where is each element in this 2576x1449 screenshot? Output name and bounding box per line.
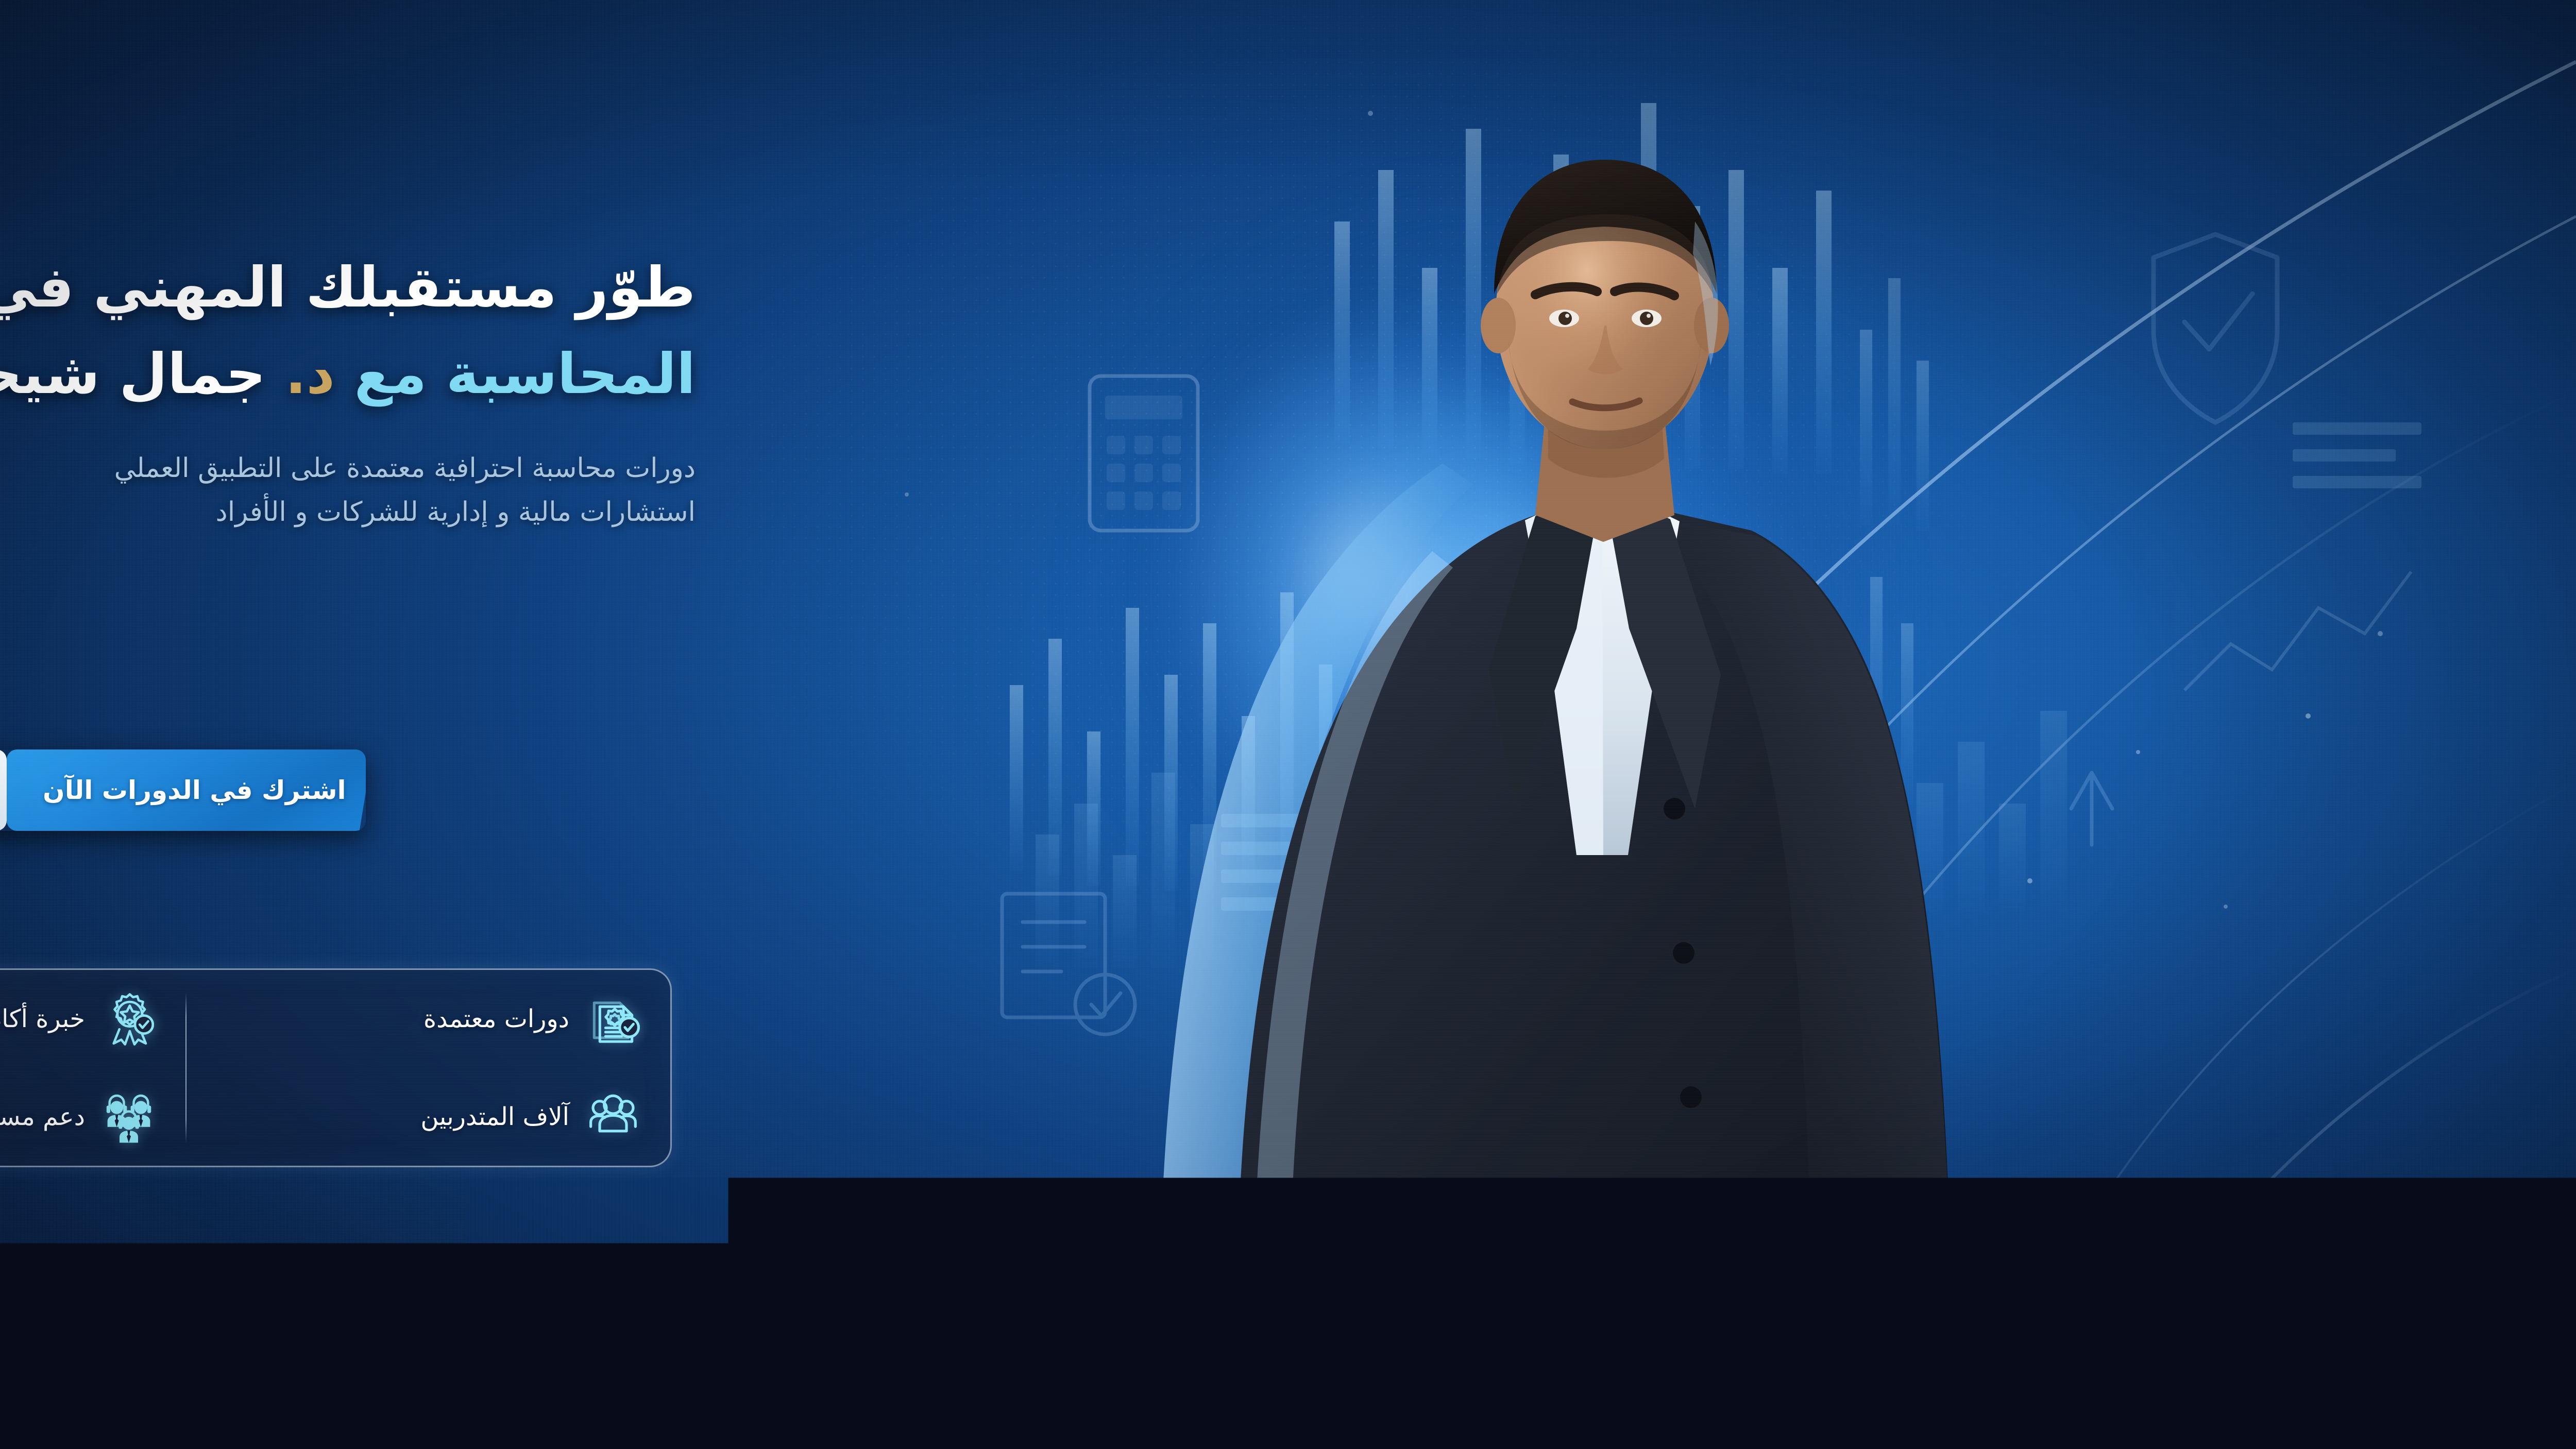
page-title: طوّر مستقبلك المهني في المحاسبة مع د. جم… — [0, 247, 696, 415]
headline-accent-cyan: المحاسبة مع — [354, 342, 696, 406]
feature-academic-practical-experience[interactable]: خبرة أكاديمية وعملية — [0, 988, 186, 1049]
feature-certified-courses[interactable]: دورات معتمدة — [186, 988, 670, 1049]
feature-highlights-card: دورات معتمدة خبرة أكاديمية وعملية — [0, 968, 672, 1167]
book-consultation-button[interactable]: احجز استشارة مالية — [0, 749, 7, 831]
subtitle-line-2: استشارات مالية و إدارية للشركات و الأفرا… — [0, 490, 696, 534]
support-headset-icon — [98, 1086, 159, 1147]
hero-banner: طوّر مستقبلك المهني في المحاسبة مع د. جم… — [0, 0, 2576, 1449]
award-ribbon-icon — [98, 988, 159, 1049]
feature-label: دورات معتمدة — [423, 1004, 569, 1033]
feature-label: دعم مستمر — [0, 1102, 85, 1131]
headline-accent-gold: د. — [285, 342, 335, 406]
feature-continuous-support[interactable]: دعم مستمر — [0, 1086, 186, 1147]
feature-label: آلاف المتدربين — [420, 1102, 569, 1131]
presenter-portrait — [1082, 124, 1984, 1339]
feature-thousands-of-trainees[interactable]: آلاف المتدربين — [186, 1086, 670, 1147]
headline-line-1: طوّر مستقبلك المهني في — [0, 255, 696, 320]
hero-text-block: طوّر مستقبلك المهني في المحاسبة مع د. جم… — [0, 247, 696, 534]
headline-line-2: المحاسبة مع د. جمال شيحة — [0, 334, 696, 415]
feature-label: خبرة أكاديمية وعملية — [0, 1004, 85, 1033]
people-group-icon — [583, 1086, 643, 1147]
hero-subtitle: دورات محاسبة احترافية معتمدة على التطبيق… — [0, 447, 696, 533]
headline-presenter-name: جمال شيحة — [0, 342, 266, 406]
cta-button-group: اشترك في الدورات الآن احجز استشارة مالية — [0, 749, 366, 831]
subtitle-line-1: دورات محاسبة احترافية معتمدة على التطبيق… — [0, 447, 696, 490]
certificate-icon — [583, 988, 643, 1049]
subscribe-courses-button[interactable]: اشترك في الدورات الآن — [7, 749, 366, 831]
